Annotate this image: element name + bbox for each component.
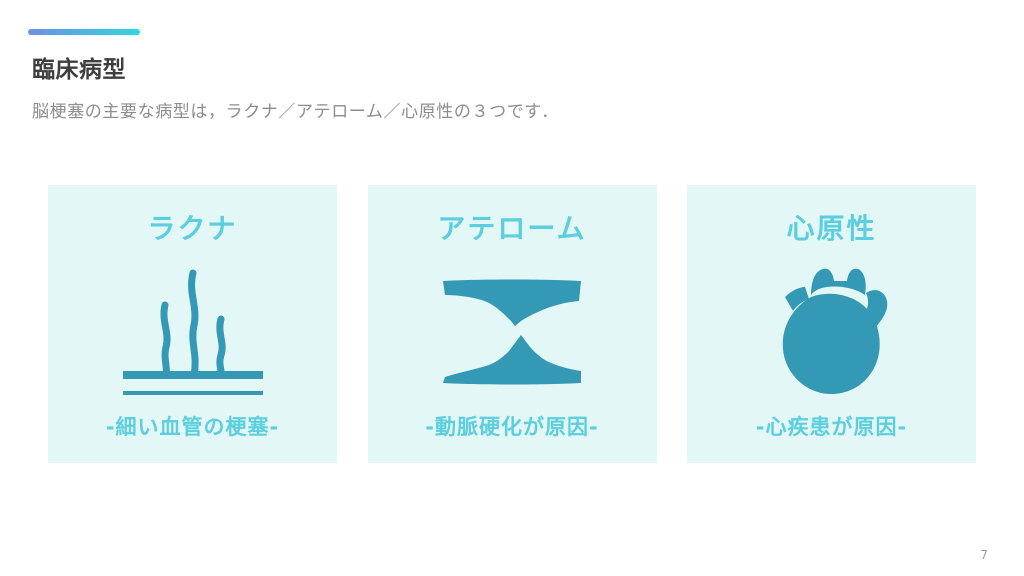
card-title: 心原性 bbox=[786, 207, 876, 247]
small-vessels-icon bbox=[48, 247, 337, 411]
page-number: 7 bbox=[980, 548, 988, 562]
page-title: 臨床病型 bbox=[32, 50, 126, 84]
heart-icon bbox=[687, 247, 976, 411]
card-caption: -動脈硬化が原因- bbox=[425, 411, 598, 441]
card-caption: -心疾患が原因- bbox=[756, 411, 907, 441]
accent-bar bbox=[28, 29, 140, 35]
card-lacunar[interactable]: ラクナ -細い血管の梗塞- bbox=[48, 185, 337, 463]
card-cardioembolic[interactable]: 心原性 -心疾患が原因- bbox=[687, 185, 976, 463]
card-atherothrombotic[interactable]: アテローム -動脈硬化が原因- bbox=[368, 185, 657, 463]
card-caption: -細い血管の梗塞- bbox=[106, 411, 279, 441]
stenotic-artery-icon bbox=[368, 247, 657, 411]
card-title: アテローム bbox=[437, 207, 586, 247]
card-title: ラクナ bbox=[147, 207, 237, 247]
card-row: ラクナ -細い血管の梗塞- アテローム -動脈硬化 bbox=[48, 185, 976, 463]
page-subtitle: 脳梗塞の主要な病型は，ラクナ／アテローム／心原性の３つです． bbox=[32, 97, 559, 122]
